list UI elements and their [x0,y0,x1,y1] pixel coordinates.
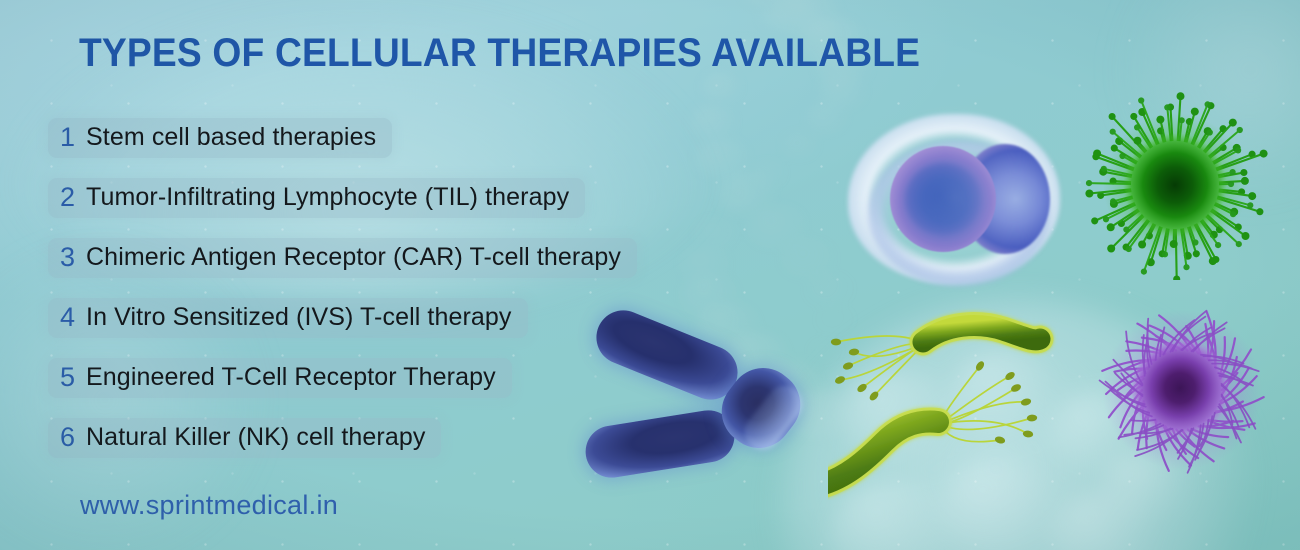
list-item: 1Stem cell based therapies [48,116,768,160]
list-item: 3Chimeric Antigen Receptor (CAR) T-cell … [48,236,768,280]
list-item: 2Tumor-Infiltrating Lymphocyte (TIL) the… [48,176,768,220]
list-item: 4In Vitro Sensitized (IVS) T-cell therap… [48,296,768,340]
green-spiked-virus-illustration [1075,85,1275,280]
background-cloud-bumps [800,330,1230,550]
list-item-pill: 3Chimeric Antigen Receptor (CAR) T-cell … [48,238,637,278]
cell-nucleus-right [960,144,1050,254]
website-url[interactable]: www.sprintmedical.in [80,489,338,521]
list-item-label: Natural Killer (NK) cell therapy [86,422,425,452]
list-item-number: 1 [60,122,75,152]
background-wisp-right [1120,0,1300,200]
purple-filament-cell-illustration [1085,290,1280,485]
cell-glow [840,100,1070,295]
list-item-label: Stem cell based therapies [86,122,376,152]
cell-membrane-inner [868,140,1050,286]
list-item-number: 3 [60,242,75,272]
page-title: TYPES OF CELLULAR THERAPIES AVAILABLE [79,31,920,75]
list-item-label: Chimeric Antigen Receptor (CAR) T-cell t… [86,242,621,272]
list-item-pill: 5Engineered T-Cell Receptor Therapy [48,358,512,398]
background-cloud-large [780,300,1260,550]
dividing-cell-illustration [840,100,1070,295]
list-item-number: 4 [60,302,75,332]
list-item-number: 2 [60,182,75,212]
list-item-pill: 2Tumor-Infiltrating Lymphocyte (TIL) the… [48,178,585,218]
list-item-number: 5 [60,362,75,392]
list-item: 6Natural Killer (NK) cell therapy [48,416,768,460]
list-item-label: Engineered T-Cell Receptor Therapy [86,362,496,392]
list-item: 5Engineered T-Cell Receptor Therapy [48,356,768,400]
list-item-label: In Vitro Sensitized (IVS) T-cell therapy [86,302,511,332]
list-item-label: Tumor-Infiltrating Lymphocyte (TIL) ther… [86,182,569,212]
green-flagellated-bacteria-illustration [828,300,1078,500]
list-item-pill: 1Stem cell based therapies [48,118,392,158]
list-item-number: 6 [60,422,75,452]
therapy-list: 1Stem cell based therapies2Tumor-Infiltr… [48,116,768,476]
list-item-pill: 6Natural Killer (NK) cell therapy [48,418,441,458]
infographic-canvas: TYPES OF CELLULAR THERAPIES AVAILABLE 1S… [0,0,1300,550]
cell-membrane-outer [848,114,1060,284]
list-item-pill: 4In Vitro Sensitized (IVS) T-cell therap… [48,298,528,338]
cell-nucleus-left [890,146,996,252]
